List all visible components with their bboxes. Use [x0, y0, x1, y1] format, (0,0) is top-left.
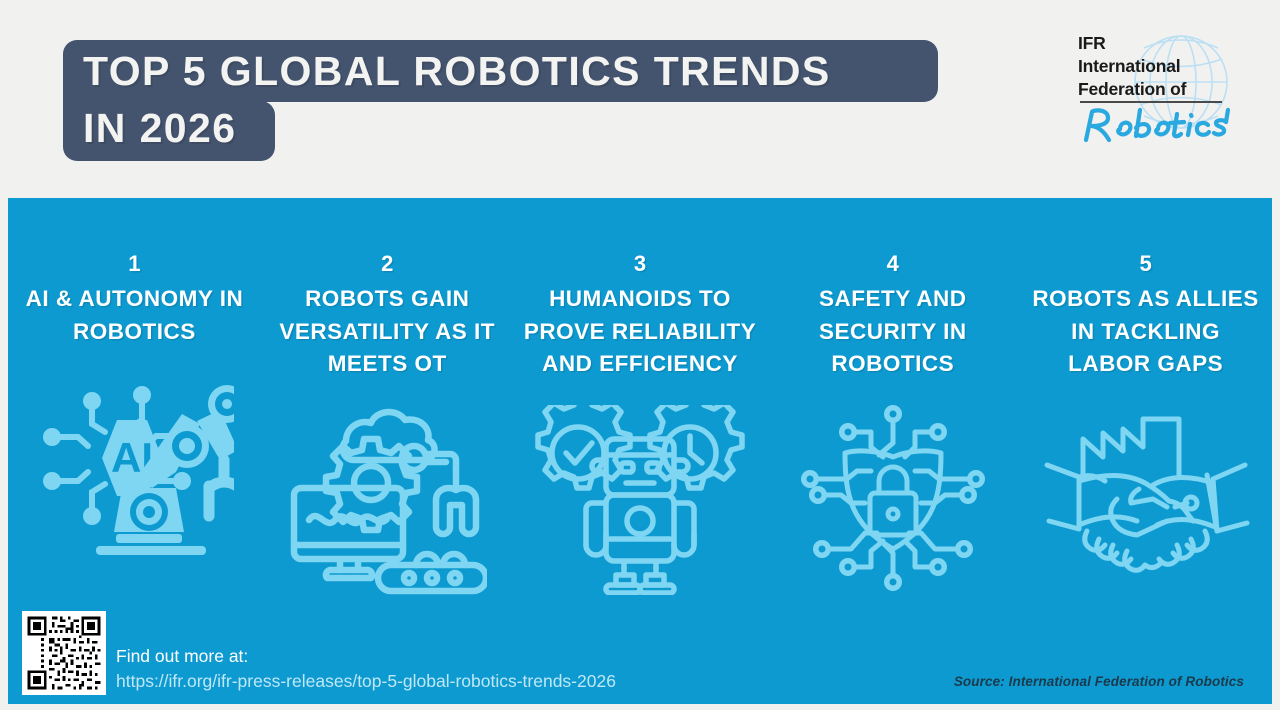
logo-line-federation: Federation of — [1078, 78, 1258, 101]
shield-lock-circuit-icon — [795, 399, 991, 614]
find-out-more-label: Find out more at: — [116, 644, 816, 669]
qr-code-icon[interactable] — [22, 611, 106, 695]
logo-line-ifr: IFR — [1078, 32, 1258, 55]
page-title-line-2: IN 2026 — [63, 101, 275, 161]
trend-number: 5 — [1139, 251, 1151, 277]
ai-hexagon-robot-arm-icon: AI — [34, 364, 234, 579]
trend-column-5[interactable]: 5 ROBOTS AS ALLIES IN TACKLING LABOR GAP… — [1019, 198, 1272, 618]
cloud-gear-monitor-conveyor-icon — [287, 387, 487, 602]
header: TOP 5 GLOBAL ROBOTICS TRENDS IN 2026 — [0, 0, 1280, 198]
trend-column-3[interactable]: 3 HUMANOIDS TO PROVE RELIABILITY AND EFF… — [514, 198, 767, 620]
trends-columns: 1 AI & AUTONOMY IN ROBOTICS — [8, 198, 1272, 618]
trend-title: HUMANOIDS TO PROVE RELIABILITY AND EFFIC… — [522, 283, 759, 381]
trend-title: SAFETY AND SECURITY IN ROBOTICS — [774, 283, 1011, 381]
page-title-line-1: TOP 5 GLOBAL ROBOTICS TRENDS — [63, 40, 938, 102]
ifr-logo[interactable]: IFR International Federation of — [1078, 28, 1258, 148]
humanoid-robot-gears-icon — [530, 405, 750, 620]
logo-line-international: International — [1078, 55, 1258, 78]
source-attribution: Source: International Federation of Robo… — [954, 674, 1244, 689]
press-release-url[interactable]: https://ifr.org/ifr-press-releases/top-5… — [116, 669, 816, 694]
trend-title: ROBOTS AS ALLIES IN TACKLING LABOR GAPS — [1027, 283, 1264, 381]
ifr-logo-text: IFR International Federation of — [1078, 32, 1258, 101]
logo-script-robotics — [1078, 102, 1230, 151]
trends-panel: 1 AI & AUTONOMY IN ROBOTICS — [8, 198, 1272, 704]
find-out-more: Find out more at: https://ifr.org/ifr-pr… — [116, 644, 816, 694]
trend-title: AI & AUTONOMY IN ROBOTICS — [16, 283, 253, 348]
trend-number: 1 — [128, 251, 140, 277]
trend-number: 4 — [887, 251, 899, 277]
trend-title: ROBOTS GAIN VERSATILITY AS IT MEETS OT — [269, 283, 506, 381]
handshake-factory-icon — [1041, 403, 1251, 618]
page-title: TOP 5 GLOBAL ROBOTICS TRENDS IN 2026 — [63, 40, 943, 161]
trend-column-2[interactable]: 2 ROBOTS GAIN VERSATILITY AS IT MEETS OT — [261, 198, 514, 602]
trend-number: 2 — [381, 251, 393, 277]
infographic-canvas: TOP 5 GLOBAL ROBOTICS TRENDS IN 2026 — [0, 0, 1280, 710]
trend-column-1[interactable]: 1 AI & AUTONOMY IN ROBOTICS — [8, 198, 261, 579]
trend-column-4[interactable]: 4 SAFETY AND SECURITY IN ROBOTICS — [766, 198, 1019, 614]
trend-number: 3 — [634, 251, 646, 277]
